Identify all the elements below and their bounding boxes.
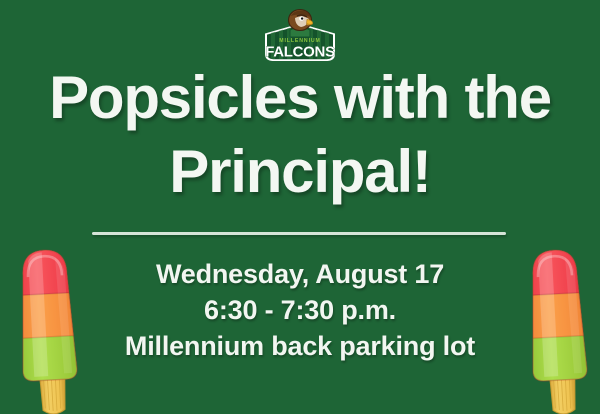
popsicle-left-body	[9, 238, 93, 414]
logo-team-name: FALCONS	[265, 44, 335, 61]
page-title-line-2: Principal!	[0, 142, 600, 202]
popsicle-illustration-right	[506, 238, 600, 414]
divider	[92, 232, 506, 235]
falcon-mascot-icon	[289, 10, 313, 38]
popsicle-right-body	[519, 238, 600, 414]
page-title-line-1: Popsicles with the	[0, 68, 600, 128]
popsicles-with-the-principal-flyer: MILLENNIUM FALCONS	[0, 0, 600, 414]
millennium-falcons-logo: MILLENNIUM FALCONS	[257, 6, 343, 66]
popsicle-illustration-left	[0, 238, 104, 414]
